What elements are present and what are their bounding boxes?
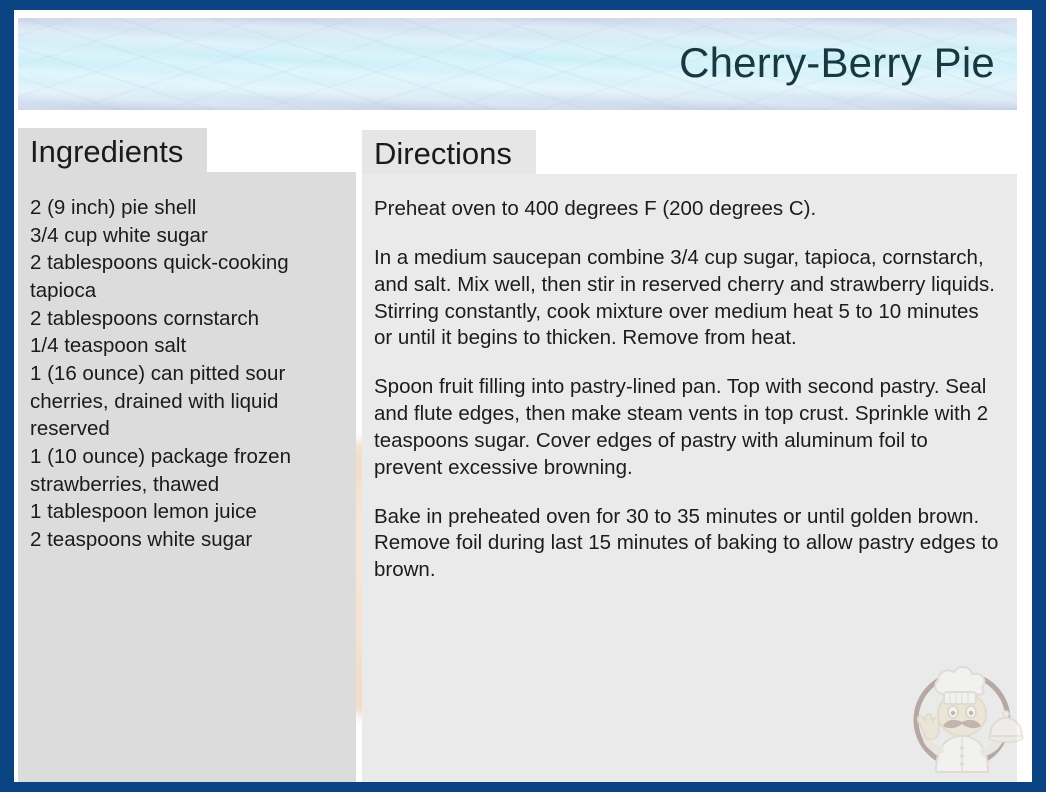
directions-heading: Directions: [362, 130, 536, 178]
ingredient-item: 2 tablespoons quick-cooking tapioca: [30, 249, 346, 304]
title-banner: Cherry-Berry Pie: [18, 18, 1017, 110]
ingredients-panel: 2 (9 inch) pie shell3/4 cup white sugar2…: [18, 172, 356, 782]
directions-text: Preheat oven to 400 degrees F (200 degre…: [362, 174, 1017, 584]
direction-step: Spoon fruit filling into pastry-lined pa…: [374, 374, 1001, 481]
direction-step: Bake in preheated oven for 30 to 35 minu…: [374, 504, 1001, 585]
direction-step: In a medium saucepan combine 3/4 cup sug…: [374, 245, 1001, 352]
ingredient-item: 1 tablespoon lemon juice: [30, 498, 346, 526]
recipe-card-inner: Cherry-Berry Pie: [14, 10, 1032, 782]
ingredients-heading: Ingredients: [18, 128, 207, 176]
ingredient-item: 2 (9 inch) pie shell: [30, 194, 346, 222]
ingredients-panel-body: 2 (9 inch) pie shell3/4 cup white sugar2…: [18, 172, 356, 554]
direction-step: Preheat oven to 400 degrees F (200 degre…: [374, 196, 1001, 223]
ingredient-item: 1 (16 ounce) can pitted sour cherries, d…: [30, 360, 346, 443]
ingredient-item: 1/4 teaspoon salt: [30, 332, 346, 360]
recipe-card-frame: Cherry-Berry Pie: [0, 0, 1046, 792]
ingredient-item: 2 teaspoons white sugar: [30, 526, 346, 554]
ingredient-item: 2 tablespoons cornstarch: [30, 305, 346, 333]
ingredient-item: 3/4 cup white sugar: [30, 222, 346, 250]
directions-panel: Preheat oven to 400 degrees F (200 degre…: [362, 174, 1017, 782]
ingredient-item: 1 (10 ounce) package frozen strawberries…: [30, 443, 346, 498]
page-title: Cherry-Berry Pie: [679, 42, 995, 84]
ingredient-list: 2 (9 inch) pie shell3/4 cup white sugar2…: [18, 172, 356, 554]
